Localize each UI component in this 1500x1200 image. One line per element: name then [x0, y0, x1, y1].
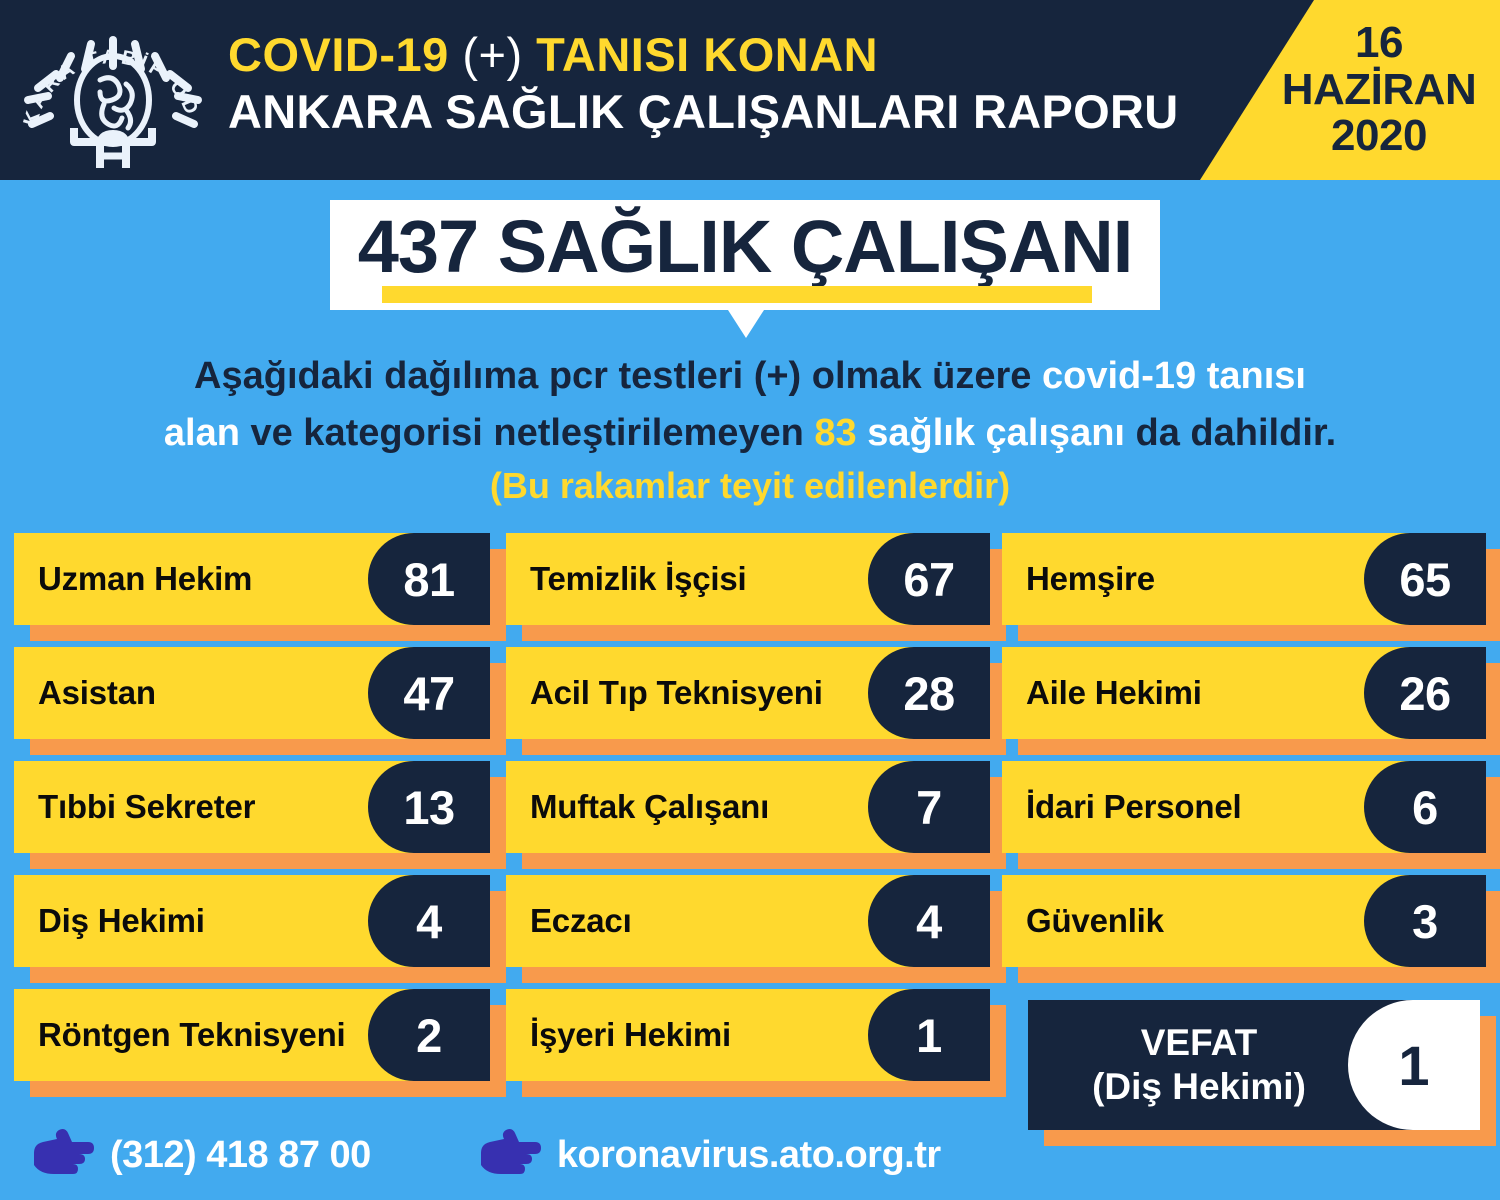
footer-phone-item[interactable]: (312) 418 87 00	[30, 1127, 371, 1184]
stat-card[interactable]: Acil Tıp Teknisyeni 28	[506, 647, 990, 739]
card-body: Hemşire 65	[1002, 533, 1486, 625]
description-line-2: alan ve kategorisi netleştirilemeyen 83 …	[50, 405, 1450, 462]
stat-card[interactable]: İdari Personel 6	[1002, 761, 1486, 853]
card-value: 3	[1412, 894, 1438, 949]
card-label: Hemşire	[1002, 560, 1155, 598]
footer-website-url: koronavirus.ato.org.tr	[557, 1134, 941, 1177]
card-value-badge: 2	[368, 989, 490, 1081]
card-body: Diş Hekimi 4	[14, 875, 490, 967]
card-value-badge: 6	[1364, 761, 1486, 853]
card-value-badge: 26	[1364, 647, 1486, 739]
stat-card[interactable]: Uzman Hekim 81	[14, 533, 490, 625]
report-date-block: 16 HAZİRAN 2020	[1200, 0, 1500, 180]
card-value: 81	[403, 552, 454, 607]
card-body: Eczacı 4	[506, 875, 990, 967]
card-body: Güvenlik 3	[1002, 875, 1486, 967]
card-value: 28	[903, 666, 954, 721]
stat-card[interactable]: Hemşire 65	[1002, 533, 1486, 625]
header-bar: ANKARA TABİP ODASI	[0, 0, 1500, 180]
headline-pointer-triangle	[728, 310, 764, 338]
deaths-card[interactable]: VEFAT (Diş Hekimi) 1	[1028, 1000, 1480, 1130]
card-body: İşyeri Hekimi 1	[506, 989, 990, 1081]
card-value-badge: 4	[368, 875, 490, 967]
card-value: 65	[1399, 552, 1450, 607]
ankara-tabip-odasi-logo: ANKARA TABİP ODASI	[8, 8, 218, 173]
description-uncategorized-count: 83	[814, 412, 856, 454]
card-label: Uzman Hekim	[14, 560, 252, 598]
card-value: 4	[416, 894, 442, 949]
headline-box: 437 SAĞLIK ÇALIŞANI	[330, 200, 1160, 310]
header-title-line1-b: TANISI KONAN	[523, 28, 879, 81]
footer-contact-bar: (312) 418 87 00 koronavirus.ato.org.tr	[30, 1120, 941, 1190]
card-value-badge: 7	[868, 761, 990, 853]
card-body: Aile Hekimi 26	[1002, 647, 1486, 739]
card-body: Acil Tıp Teknisyeni 28	[506, 647, 990, 739]
report-date-month: HAZİRAN	[1282, 67, 1476, 114]
card-value-badge: 65	[1364, 533, 1486, 625]
card-value-badge: 3	[1364, 875, 1486, 967]
stat-card[interactable]: Asistan 47	[14, 647, 490, 739]
headline-underline	[382, 286, 1092, 303]
card-label: Röntgen Teknisyeni	[14, 1016, 346, 1054]
report-date-year: 2020	[1331, 113, 1427, 160]
card-value-badge: 67	[868, 533, 990, 625]
deaths-value-badge: 1	[1348, 1000, 1480, 1130]
card-value: 1	[916, 1008, 942, 1063]
deaths-card-subtitle: (Diş Hekimi)	[1092, 1065, 1306, 1109]
pointing-hand-icon	[477, 1127, 541, 1184]
card-column-right: Hemşire 65 Aile Hekimi 26 İdari Personel…	[1002, 533, 1486, 989]
card-value-badge: 4	[868, 875, 990, 967]
card-body: Röntgen Teknisyeni 2	[14, 989, 490, 1081]
card-body: Tıbbi Sekreter 13	[14, 761, 490, 853]
card-value-badge: 47	[368, 647, 490, 739]
stat-card[interactable]: Tıbbi Sekreter 13	[14, 761, 490, 853]
report-date-day: 16	[1355, 20, 1403, 67]
card-column-left: Uzman Hekim 81 Asistan 47 Tıbbi Sekreter…	[14, 533, 490, 1103]
card-label: İşyeri Hekimi	[506, 1016, 731, 1054]
stat-card[interactable]: Temizlik İşçisi 67	[506, 533, 990, 625]
footer-phone-number: (312) 418 87 00	[110, 1134, 371, 1177]
card-value-badge: 81	[368, 533, 490, 625]
card-label: Diş Hekimi	[14, 902, 205, 940]
description-line2-highlight-1: alan	[164, 412, 240, 454]
card-label: Aile Hekimi	[1002, 674, 1202, 712]
description-block: Aşağıdaki dağılıma pcr testleri (+) olma…	[50, 348, 1450, 511]
card-body: Uzman Hekim 81	[14, 533, 490, 625]
stat-card[interactable]: Muftak Çalışanı 7	[506, 761, 990, 853]
pointing-hand-icon	[30, 1127, 94, 1184]
footer-website-item[interactable]: koronavirus.ato.org.tr	[477, 1127, 941, 1184]
description-line1-highlight: covid-19 tanısı	[1042, 355, 1306, 397]
card-value: 6	[1412, 780, 1438, 835]
stat-card[interactable]: Röntgen Teknisyeni 2	[14, 989, 490, 1081]
card-value-badge: 28	[868, 647, 990, 739]
stat-card[interactable]: Eczacı 4	[506, 875, 990, 967]
card-label: Muftak Çalışanı	[506, 788, 769, 826]
stat-card[interactable]: İşyeri Hekimi 1	[506, 989, 990, 1081]
card-body: Temizlik İşçisi 67	[506, 533, 990, 625]
card-value: 7	[916, 780, 942, 835]
stat-card[interactable]: Aile Hekimi 26	[1002, 647, 1486, 739]
card-body: İdari Personel 6	[1002, 761, 1486, 853]
card-value: 47	[403, 666, 454, 721]
header-title-group: COVID-19 (+) TANISI KONAN ANKARA SAĞLIK …	[228, 26, 1188, 141]
card-value: 13	[403, 780, 454, 835]
card-label: Tıbbi Sekreter	[14, 788, 255, 826]
card-value: 4	[916, 894, 942, 949]
header-title-line1-a: COVID-19	[228, 28, 462, 81]
card-column-middle: Temizlik İşçisi 67 Acil Tıp Teknisyeni 2…	[506, 533, 990, 1103]
svg-text:ANKARA TABİP ODASI: ANKARA TABİP ODASI	[8, 8, 204, 129]
card-value: 67	[903, 552, 954, 607]
card-value: 26	[1399, 666, 1450, 721]
card-value-badge: 13	[368, 761, 490, 853]
card-label: İdari Personel	[1002, 788, 1241, 826]
card-label: Eczacı	[506, 902, 632, 940]
card-body: Muftak Çalışanı 7	[506, 761, 990, 853]
card-label: Acil Tıp Teknisyeni	[506, 674, 823, 712]
stat-card[interactable]: Diş Hekimi 4	[14, 875, 490, 967]
header-title-line1: COVID-19 (+) TANISI KONAN	[228, 26, 1188, 83]
description-line2-b: da dahildir.	[1125, 412, 1336, 454]
deaths-card-title: VEFAT	[1141, 1021, 1258, 1065]
page-title: 437 SAĞLIK ÇALIŞANI	[330, 204, 1160, 289]
card-label: Güvenlik	[1002, 902, 1164, 940]
stat-card[interactable]: Güvenlik 3	[1002, 875, 1486, 967]
header-title-plus: (+)	[462, 28, 522, 81]
description-note: (Bu rakamlar teyit edilenlerdir)	[50, 462, 1450, 511]
description-line2-a: ve kategorisi netleştirilemeyen	[240, 412, 815, 454]
card-body: Asistan 47	[14, 647, 490, 739]
description-line1-a: Aşağıdaki dağılıma pcr testleri (+) olma…	[194, 355, 1042, 397]
deaths-value: 1	[1398, 1033, 1429, 1098]
card-label: Temizlik İşçisi	[506, 560, 747, 598]
card-label: Asistan	[14, 674, 156, 712]
description-line-1: Aşağıdaki dağılıma pcr testleri (+) olma…	[50, 348, 1450, 405]
description-line2-highlight-2: sağlık çalışanı	[857, 412, 1125, 454]
header-title-line2: ANKARA SAĞLIK ÇALIŞANLARI RAPORU	[228, 83, 1188, 140]
card-value-badge: 1	[868, 989, 990, 1081]
card-value: 2	[416, 1008, 442, 1063]
